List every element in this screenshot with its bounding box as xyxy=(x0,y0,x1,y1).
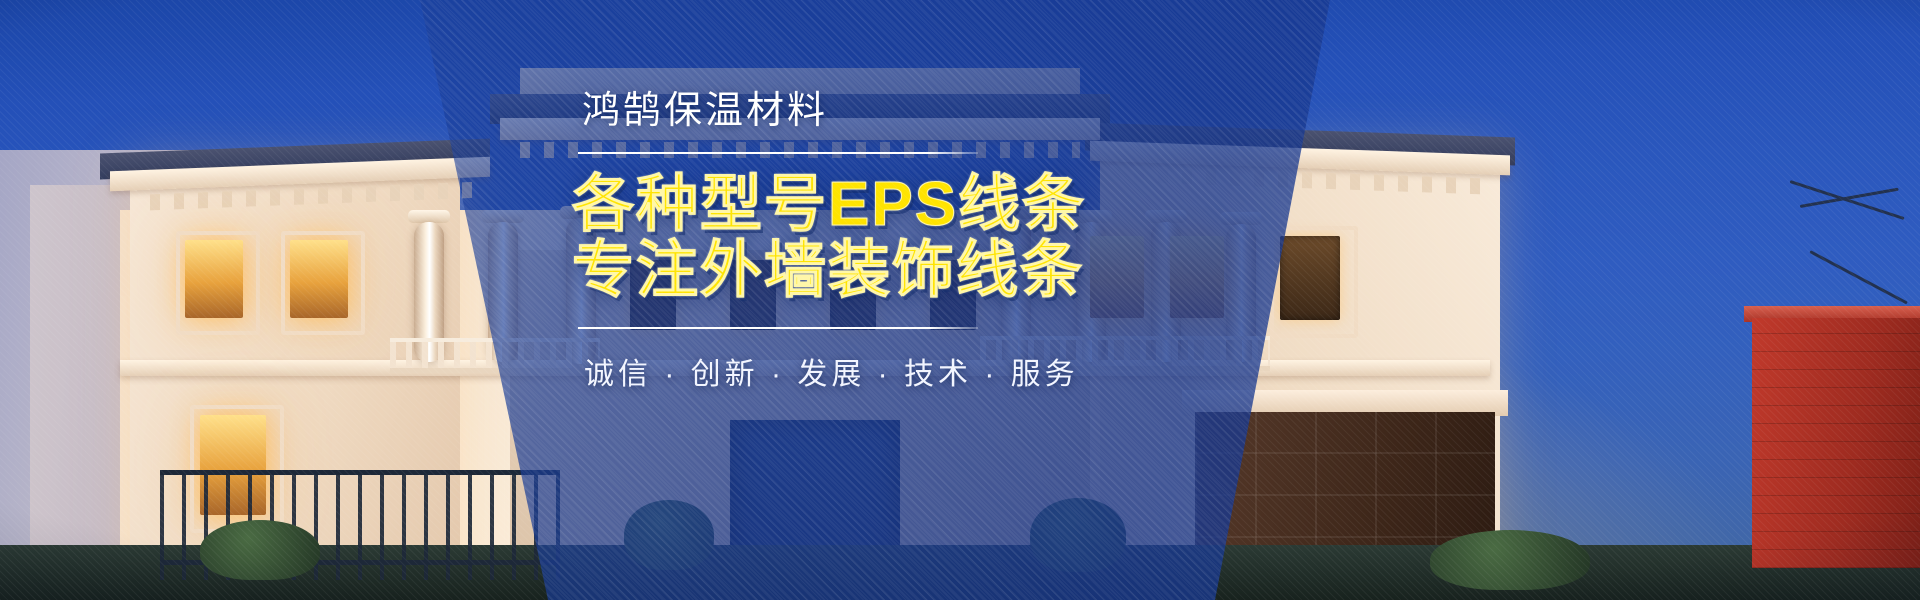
headline-line-1: 各种型号EPS线条 xyxy=(572,172,1320,238)
headline-line-2: 专注外墙装饰线条 xyxy=(572,238,1320,304)
divider-top xyxy=(578,152,978,154)
headline-group: 各种型号EPS线条 专注外墙装饰线条 xyxy=(572,172,1320,305)
divider-bottom xyxy=(578,327,978,329)
banner-content: 鸿鹄保温材料 各种型号EPS线条 专注外墙装饰线条 诚信 · 创新 · 发展 ·… xyxy=(560,92,1320,393)
tagline: 诚信 · 创新 · 发展 · 技术 · 服务 xyxy=(584,349,1320,393)
hero-banner: 鸿鹄保温材料 各种型号EPS线条 专注外墙装饰线条 诚信 · 创新 · 发展 ·… xyxy=(0,0,1920,600)
company-name: 鸿鹄保温材料 xyxy=(582,92,1320,130)
